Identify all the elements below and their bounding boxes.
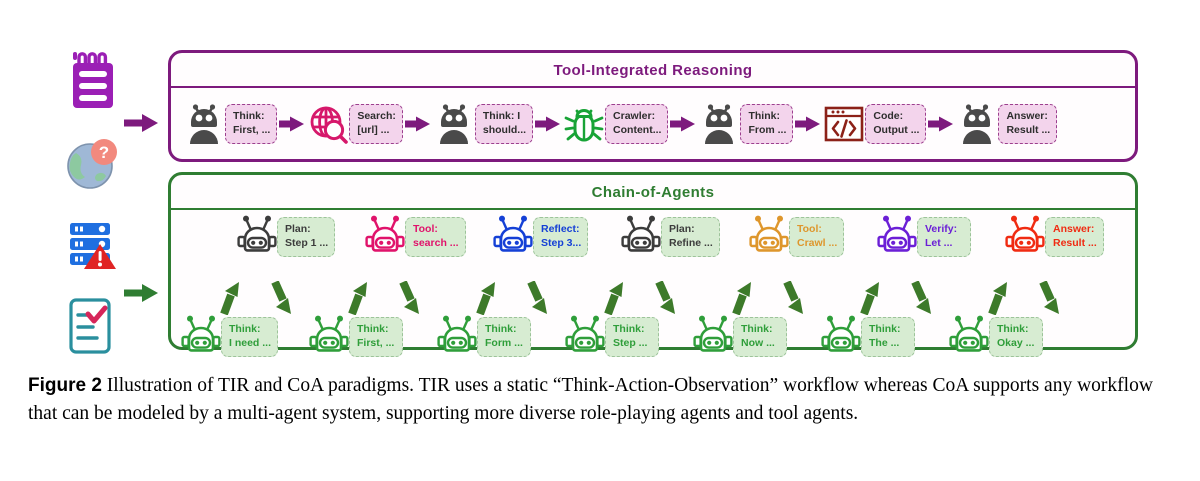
- bubble-line-2: Refine ...: [669, 237, 713, 251]
- message-bubble: Answer: Result ...: [1045, 217, 1104, 257]
- robot-gray-icon: [183, 101, 225, 147]
- tir-flow-arrow: [403, 115, 433, 133]
- message-bubble: Think: Step ...: [605, 317, 659, 357]
- robot-gray-icon: [956, 101, 998, 147]
- bubble-line-2: From ...: [748, 124, 786, 138]
- bubble-line-1: Think:: [485, 323, 524, 337]
- robot-icon: [365, 215, 405, 259]
- robot-icon: [565, 315, 605, 359]
- bug-crawler-icon: [563, 101, 605, 147]
- message-bubble: Plan: Step 1 ...: [277, 217, 335, 257]
- robot-icon: [1005, 215, 1045, 259]
- tir-step[interactable]: Think: I should...: [433, 101, 533, 147]
- coa-think-agent[interactable]: Think: The ...: [821, 315, 915, 359]
- robot-icon: [821, 315, 861, 359]
- bubble-line-1: Answer:: [1006, 110, 1050, 124]
- bubble-line-1: Think:: [233, 110, 270, 124]
- coa-role-agent[interactable]: Answer: Result ...: [1005, 215, 1104, 259]
- code-window-icon: [823, 101, 865, 147]
- bubble-line-2: Step 3...: [541, 237, 581, 251]
- input-to-tir-arrow: [122, 112, 162, 134]
- message-bubble: Think: First, ...: [349, 317, 403, 357]
- bubble-line-2: Okay ...: [997, 337, 1036, 351]
- message-bubble: Think: Form ...: [477, 317, 531, 357]
- message-bubble: Crawler: Content...: [605, 104, 668, 144]
- figure-caption: Figure 2 Illustration of TIR and CoA par…: [28, 372, 1174, 428]
- bubble-line-1: Search:: [357, 110, 396, 124]
- robot-gray-icon: [698, 101, 740, 147]
- bubble-line-1: Code:: [873, 110, 919, 124]
- tir-step[interactable]: Answer: Result ...: [956, 101, 1057, 147]
- bubble-line-1: Plan:: [669, 223, 713, 237]
- message-bubble: Answer: Result ...: [998, 104, 1057, 144]
- figure-caption-text: Illustration of TIR and CoA paradigms. T…: [28, 375, 1153, 424]
- bubble-line-2: Result ...: [1053, 237, 1097, 251]
- bubble-line-1: Tool:: [797, 223, 837, 237]
- tir-flow-arrow: [277, 115, 307, 133]
- message-bubble: Think: The ...: [861, 317, 915, 357]
- input-to-coa-arrow: [122, 282, 162, 304]
- tir-flow-arrow: [533, 115, 563, 133]
- message-bubble: Think: I need ...: [221, 317, 278, 357]
- coa-think-agent[interactable]: Think: Form ...: [437, 315, 531, 359]
- bubble-line-1: Tool:: [413, 223, 459, 237]
- robot-icon: [181, 315, 221, 359]
- tir-title-divider: [171, 86, 1135, 88]
- coa-body: Plan: Step 1 ... Tool: search ...: [171, 211, 1135, 347]
- bubble-line-2: First, ...: [357, 337, 396, 351]
- svg-text:?: ?: [99, 143, 109, 162]
- figure-canvas: ?: [0, 0, 1200, 481]
- globe-question-icon: ?: [64, 136, 122, 199]
- bubble-line-1: Verify:: [925, 223, 964, 237]
- checklist-icon: [66, 296, 118, 361]
- message-bubble: Plan: Refine ...: [661, 217, 720, 257]
- bubble-line-2: Result ...: [1006, 124, 1050, 138]
- tir-step[interactable]: Code: Output ...: [823, 101, 926, 147]
- tir-step[interactable]: Crawler: Content...: [563, 101, 668, 147]
- bubble-line-1: Answer:: [1053, 223, 1097, 237]
- tir-step[interactable]: Think: From ...: [698, 101, 793, 147]
- bubble-line-2: First, ...: [233, 124, 270, 138]
- bubble-line-1: Reflect:: [541, 223, 581, 237]
- bubble-line-1: Think: I: [483, 110, 526, 124]
- message-bubble: Think: Okay ...: [989, 317, 1043, 357]
- coa-role-agent[interactable]: Plan: Refine ...: [621, 215, 720, 259]
- bubble-line-2: Output ...: [873, 124, 919, 138]
- tir-flow-arrow: [926, 115, 956, 133]
- bubble-line-2: I need ...: [229, 337, 271, 351]
- tir-flow-arrow: [793, 115, 823, 133]
- coa-role-agent[interactable]: Verify: Let ...: [877, 215, 971, 259]
- bubble-line-2: Crawl ...: [797, 237, 837, 251]
- coa-role-agent[interactable]: Tool: Crawl ...: [749, 215, 844, 259]
- coa-title-divider: [171, 208, 1135, 210]
- robot-gray-icon: [433, 101, 475, 147]
- message-bubble: Think: From ...: [740, 104, 793, 144]
- bubble-line-1: Crawler:: [613, 110, 661, 124]
- coa-think-agent[interactable]: Think: I need ...: [181, 315, 278, 359]
- web-search-icon: [307, 101, 349, 147]
- message-bubble: Code: Output ...: [865, 104, 926, 144]
- tir-step[interactable]: Think: First, ...: [183, 101, 277, 147]
- tir-flow-arrow: [668, 115, 698, 133]
- bubble-line-1: Think:: [613, 323, 652, 337]
- bubble-line-2: Let ...: [925, 237, 964, 251]
- bubble-line-1: Plan:: [285, 223, 328, 237]
- message-bubble: Verify: Let ...: [917, 217, 971, 257]
- tir-step[interactable]: Search: [url] ...: [307, 101, 403, 147]
- bubble-line-1: Think:: [357, 323, 396, 337]
- tir-step-sequence: Think: First, ... Search: [url] ...: [183, 91, 1125, 157]
- coa-panel-title: Chain-of-Agents: [171, 175, 1135, 209]
- message-bubble: Reflect: Step 3...: [533, 217, 588, 257]
- coa-role-agent[interactable]: Reflect: Step 3...: [493, 215, 588, 259]
- bubble-line-1: Think:: [997, 323, 1036, 337]
- robot-icon: [309, 315, 349, 359]
- bubble-line-1: Think:: [748, 110, 786, 124]
- tir-panel-title: Tool-Integrated Reasoning: [171, 53, 1135, 87]
- bubble-line-2: Content...: [613, 124, 661, 138]
- coa-think-agent-row: Think: I need ... Think: First, ...: [181, 315, 1129, 377]
- bubble-line-2: [url] ...: [357, 124, 396, 138]
- bubble-line-2: Step ...: [613, 337, 652, 351]
- robot-icon: [877, 215, 917, 259]
- robot-icon: [237, 215, 277, 259]
- figure-label: Figure 2: [28, 375, 102, 396]
- bubble-line-1: Think:: [229, 323, 271, 337]
- bubble-line-2: should...: [483, 124, 526, 138]
- bubble-line-2: search ...: [413, 237, 459, 251]
- robot-icon: [693, 315, 733, 359]
- message-bubble: Tool: search ...: [405, 217, 466, 257]
- robot-icon: [437, 315, 477, 359]
- robot-icon: [949, 315, 989, 359]
- notepad-icon: [66, 52, 122, 119]
- robot-icon: [749, 215, 789, 259]
- message-bubble: Search: [url] ...: [349, 104, 403, 144]
- coa-arrow-layer: [171, 281, 1135, 317]
- bubble-line-1: Think:: [741, 323, 780, 337]
- coa-panel: Chain-of-Agents Plan: Step 1 ...: [168, 172, 1138, 350]
- coa-think-agent[interactable]: Think: Now ...: [693, 315, 787, 359]
- coa-think-agent[interactable]: Think: First, ...: [309, 315, 403, 359]
- bubble-line-2: The ...: [869, 337, 908, 351]
- server-alert-icon: [66, 216, 122, 277]
- coa-role-agent-row: Plan: Step 1 ... Tool: search ...: [237, 215, 1127, 277]
- robot-icon: [621, 215, 661, 259]
- message-bubble: Think: Now ...: [733, 317, 787, 357]
- coa-think-agent[interactable]: Think: Okay ...: [949, 315, 1043, 359]
- coa-role-agent[interactable]: Plan: Step 1 ...: [237, 215, 335, 259]
- bubble-line-2: Step 1 ...: [285, 237, 328, 251]
- bubble-line-1: Think:: [869, 323, 908, 337]
- message-bubble: Think: First, ...: [225, 104, 277, 144]
- bubble-line-2: Now ...: [741, 337, 780, 351]
- tir-panel: Tool-Integrated Reasoning Think: First, …: [168, 50, 1138, 162]
- coa-think-agent[interactable]: Think: Step ...: [565, 315, 659, 359]
- robot-icon: [493, 215, 533, 259]
- bubble-line-2: Form ...: [485, 337, 524, 351]
- coa-role-agent[interactable]: Tool: search ...: [365, 215, 466, 259]
- message-bubble: Think: I should...: [475, 104, 533, 144]
- message-bubble: Tool: Crawl ...: [789, 217, 844, 257]
